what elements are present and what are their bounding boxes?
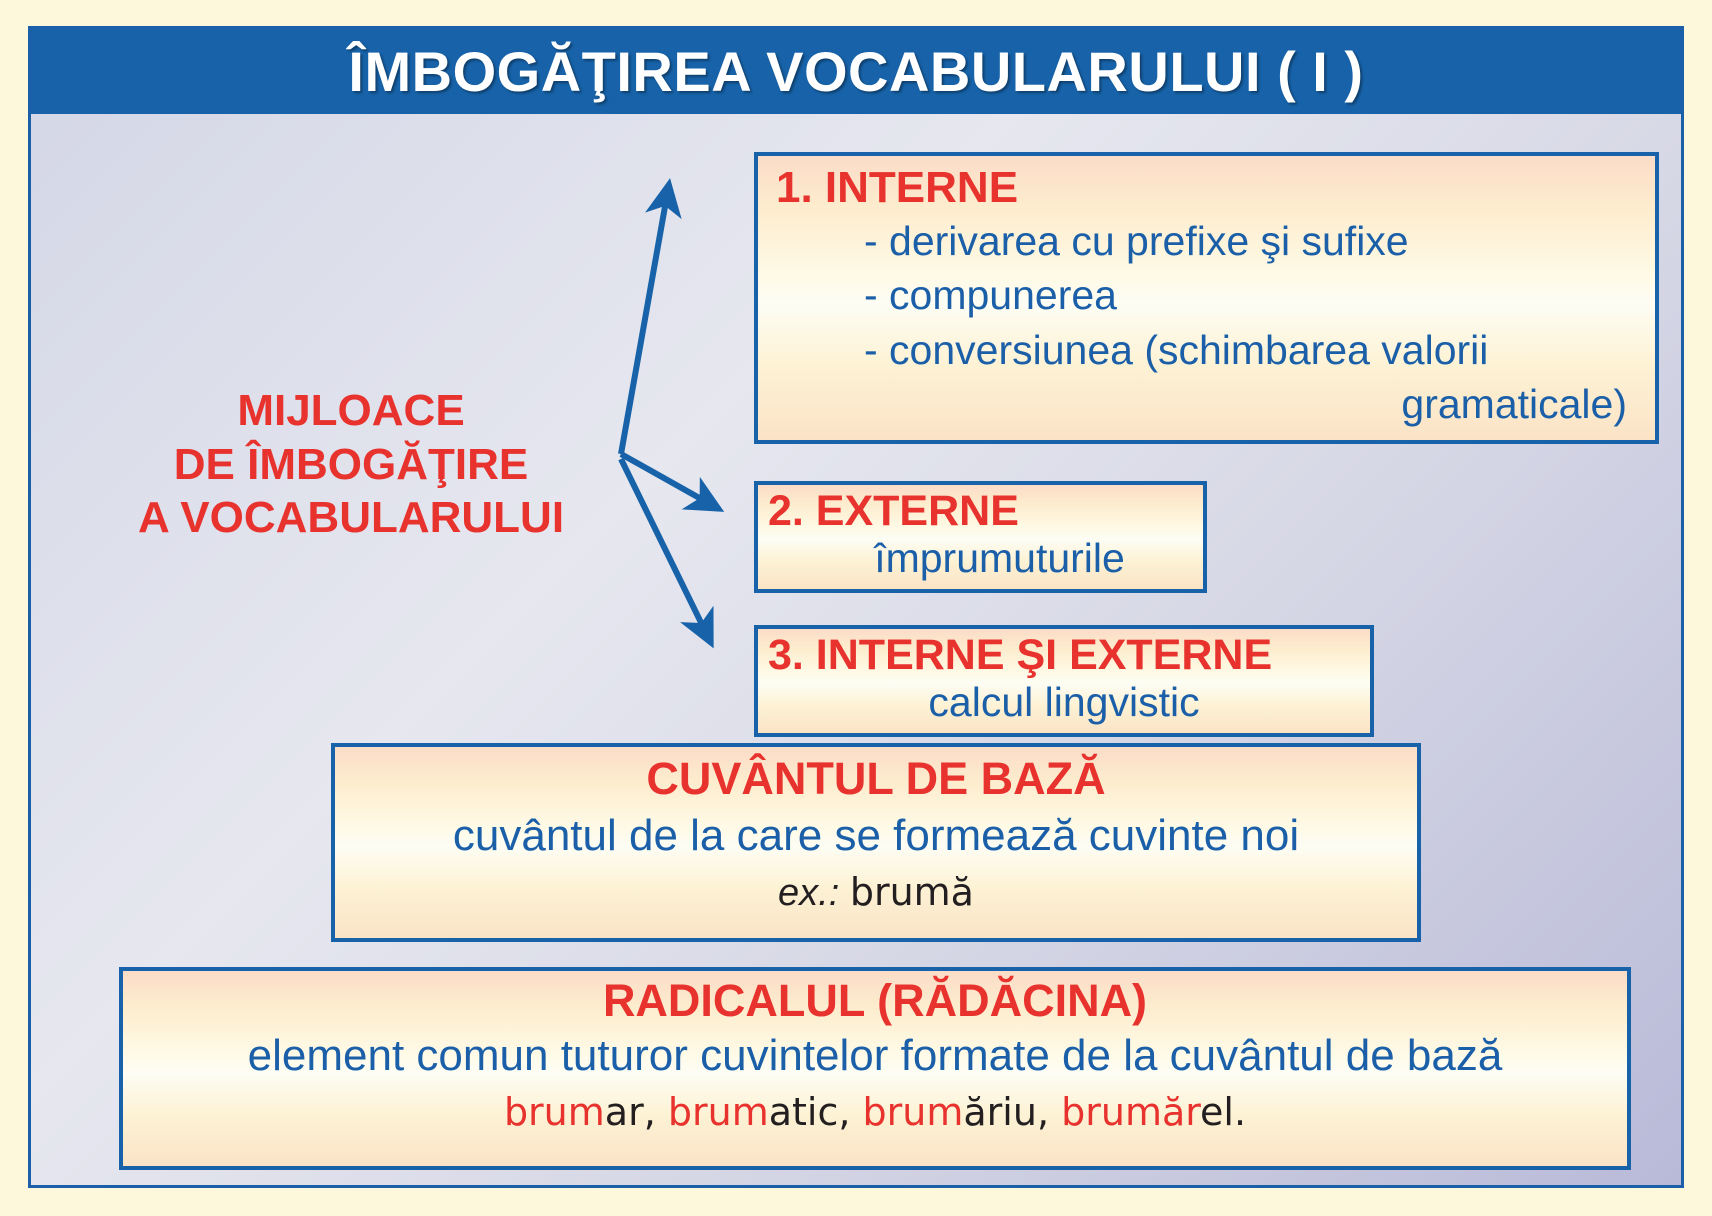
main-concept-line-1: MIJLOACE (71, 384, 631, 438)
box-cuvantul-example: ex.: brumă (349, 870, 1403, 915)
example-suffix: el. (1200, 1090, 1246, 1134)
box-cuvantul-de-baza: CUVÂNTUL DE BAZĂ cuvântul de la care se … (331, 743, 1421, 942)
example-word: brumă (850, 870, 974, 914)
box-cuvantul-heading: CUVÂNTUL DE BAZĂ (349, 755, 1403, 804)
box-interne-heading: 1. INTERNE (776, 164, 1639, 212)
box-radicalul-examples: brumar, brumatic, brumăriu, brumărel. (137, 1090, 1613, 1134)
box-externe: 2. EXTERNE împrumuturile (754, 481, 1207, 593)
title-bar: ÎMBOGĂŢIREA VOCABULARULUI ( I ) (31, 29, 1681, 114)
example-suffix: atic, (769, 1090, 863, 1134)
box-interne: 1. INTERNE - derivarea cu prefixe şi suf… (754, 152, 1659, 444)
example-root: brum (504, 1090, 605, 1134)
arrow-to-externe (621, 454, 719, 509)
box-interne-list: - derivarea cu prefixe şi sufixe - compu… (776, 214, 1639, 432)
example-suffix: ăriu, (963, 1090, 1061, 1134)
list-item: - conversiunea (schimbarea valorii (864, 323, 1639, 378)
example-suffix: ar, (605, 1090, 668, 1134)
page-title: ÎMBOGĂŢIREA VOCABULARULUI ( I ) (348, 44, 1363, 100)
box-radicalul: RADICALUL (RĂDĂCINA) element comun tutur… (119, 967, 1631, 1170)
box-mixte-heading: 3. INTERNE ŞI EXTERNE (768, 632, 1360, 678)
arrow-to-mixte (621, 459, 711, 643)
box-mixte-body: calcul lingvistic (768, 678, 1360, 726)
diagram-frame: ÎMBOGĂŢIREA VOCABULARULUI ( I ) MIJLOACE… (28, 26, 1684, 1188)
list-item-continuation: gramaticale) (864, 377, 1639, 432)
example-root: brum (863, 1090, 964, 1134)
box-cuvantul-body: cuvântul de la care se formează cuvinte … (349, 810, 1403, 862)
list-item: - compunerea (864, 268, 1639, 323)
diagram-page: ÎMBOGĂŢIREA VOCABULARULUI ( I ) MIJLOACE… (0, 0, 1712, 1216)
box-externe-body: împrumuturile (768, 534, 1193, 582)
main-concept-line-2: DE ÎMBOGĂŢIRE (71, 438, 631, 492)
box-radicalul-body: element comun tuturor cuvintelor formate… (137, 1030, 1613, 1082)
list-item: gramaticale) (864, 377, 1639, 432)
example-root: brumăr (1061, 1090, 1200, 1134)
main-concept-label: MIJLOACE DE ÎMBOGĂŢIRE A VOCABULARULUI (71, 384, 631, 545)
example-label: ex.: (778, 872, 839, 914)
main-concept-line-3: A VOCABULARULUI (71, 491, 631, 545)
list-item: - derivarea cu prefixe şi sufixe (864, 214, 1639, 269)
box-externe-heading: 2. EXTERNE (768, 488, 1193, 534)
example-root: brum (668, 1090, 769, 1134)
box-mixte: 3. INTERNE ŞI EXTERNE calcul lingvistic (754, 625, 1374, 737)
box-radicalul-heading: RADICALUL (RĂDĂCINA) (137, 977, 1613, 1026)
